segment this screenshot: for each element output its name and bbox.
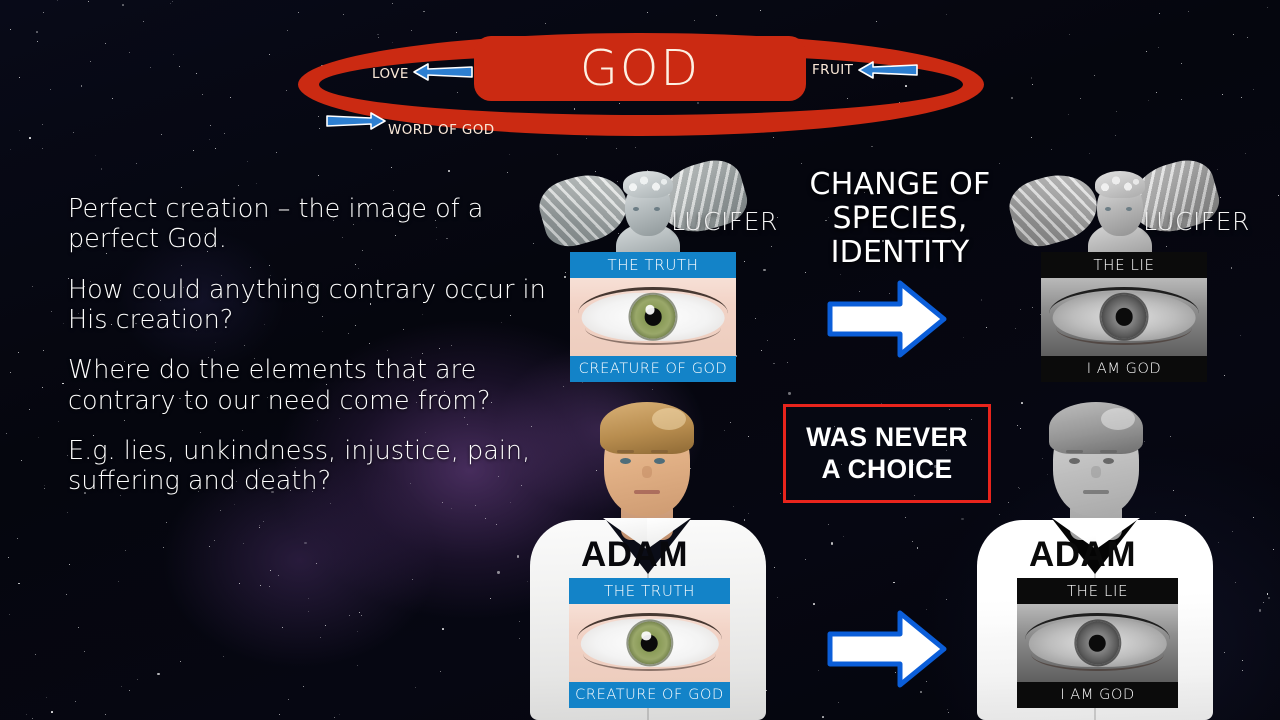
adam-mouth (1083, 490, 1109, 494)
angel-eye-left (633, 207, 639, 211)
eye-image-lie (1017, 604, 1178, 682)
figure-lucifer-after: LUCIFER THE LIE I AM GOD (1013, 152, 1228, 377)
band-top-adam-truth: THE TRUTH (569, 578, 730, 604)
body-paragraph-4: E.g. lies, unkindness, injustice, pain, … (68, 436, 558, 497)
eye-lash-lower (1056, 328, 1192, 345)
body-paragraph-3: Where do the elements that are contrary … (68, 355, 558, 416)
eye-image-truth (570, 278, 736, 356)
god-label: GOD (580, 44, 700, 93)
eye-lash-lower (1031, 654, 1163, 671)
callout-was-never-a-choice: WAS NEVER A CHOICE (783, 404, 991, 503)
slide-canvas: GOD LOVE FRUIT WORD OF GOD Perfect creat… (0, 0, 1280, 720)
figure-adam-before: ADAM THE TRUTH CREATURE OF GOD (525, 392, 769, 720)
body-text-block: Perfect creation – the image of a perfec… (68, 194, 558, 517)
adam-nose (642, 466, 652, 478)
eye-image-lie (1041, 278, 1207, 356)
label-adam-before: ADAM (581, 535, 688, 575)
arrow-right-word-icon (325, 110, 387, 132)
callout-line-1: WAS NEVER (806, 422, 968, 453)
adam-brow-right (651, 450, 668, 453)
band-top-adam-lie: THE LIE (1017, 578, 1178, 604)
angel-eye-left (1105, 207, 1111, 211)
band-bottom-lucifer-truth: CREATURE OF GOD (570, 356, 736, 382)
label-adam-after: ADAM (1029, 535, 1136, 575)
adam-brow-right (1100, 450, 1117, 453)
label-lucifer-after: LUCIFER (1143, 207, 1250, 236)
body-paragraph-2: How could anything contrary occur in His… (68, 275, 558, 336)
band-top-lucifer-lie: THE LIE (1041, 252, 1207, 278)
adam-eye-left (620, 458, 631, 464)
eye-lash-upper (577, 613, 722, 640)
arrow-right-transform-bottom-icon (826, 608, 949, 690)
band-bottom-adam-lie: I AM GOD (1017, 682, 1178, 708)
headline-line-2: SPECIES, IDENTITY (760, 202, 1040, 270)
label-fruit: FRUIT (812, 62, 853, 78)
adam-nose (1091, 466, 1101, 478)
adam-mouth (634, 490, 660, 494)
label-word-of-god: WORD OF GOD (388, 122, 495, 138)
adam-brow-left (617, 450, 634, 453)
figure-lucifer-before: LUCIFER THE TRUTH CREATURE OF GOD (543, 152, 753, 377)
adam-eye-right (1103, 458, 1114, 464)
band-top-lucifer-truth: THE TRUTH (570, 252, 736, 278)
arrow-right-transform-top-icon (826, 278, 949, 360)
eye-lash-lower (583, 654, 715, 671)
eye-lash-upper (578, 287, 727, 314)
angel-hair (623, 171, 673, 198)
adam-brow-left (1066, 450, 1083, 453)
arrow-left-fruit-icon (857, 60, 919, 80)
label-love: LOVE (372, 66, 409, 82)
adam-hair (600, 402, 694, 454)
eye-image-truth (569, 604, 730, 682)
band-bottom-lucifer-lie: I AM GOD (1041, 356, 1207, 382)
band-bottom-adam-truth: CREATURE OF GOD (569, 682, 730, 708)
plaque-adam-lie: THE LIE I AM GOD (1017, 578, 1178, 708)
plaque-lucifer-truth: THE TRUTH CREATURE OF GOD (570, 252, 736, 382)
eye-lash-upper (1049, 287, 1198, 314)
arrow-left-love-icon (412, 62, 474, 82)
body-paragraph-1: Perfect creation – the image of a perfec… (68, 194, 558, 255)
angel-hair (1095, 171, 1145, 198)
eye-lash-lower (585, 328, 721, 345)
headline-change-of-species: CHANGE OF SPECIES, IDENTITY (760, 168, 1040, 270)
adam-eye-left (1069, 458, 1080, 464)
adam-hair (1049, 402, 1143, 454)
headline-line-1: CHANGE OF (760, 168, 1040, 202)
callout-line-2: A CHOICE (822, 454, 953, 485)
god-center-box: GOD (474, 36, 806, 101)
angel-eye-right (654, 207, 660, 211)
eye-lash-upper (1025, 613, 1170, 640)
figure-adam-after: ADAM THE LIE I AM GOD (965, 392, 1225, 720)
angel-eye-right (1126, 207, 1132, 211)
plaque-lucifer-lie: THE LIE I AM GOD (1041, 252, 1207, 382)
plaque-adam-truth: THE TRUTH CREATURE OF GOD (569, 578, 730, 708)
adam-eye-right (654, 458, 665, 464)
